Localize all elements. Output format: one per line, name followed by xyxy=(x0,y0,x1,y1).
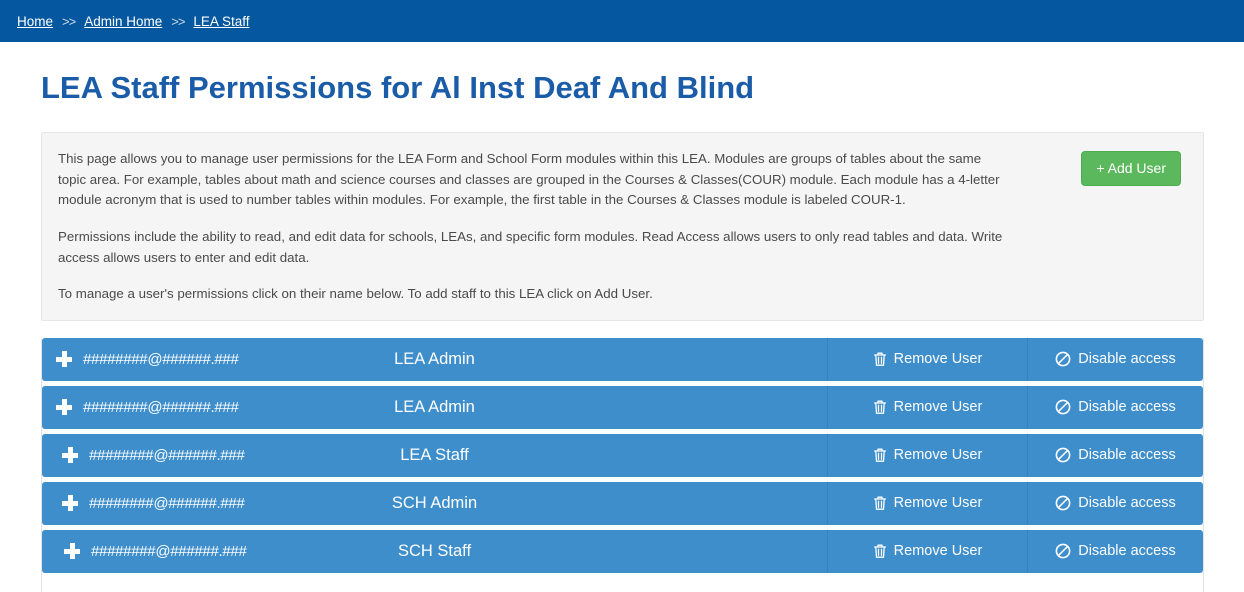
remove-user-button[interactable]: Remove User xyxy=(827,386,1027,429)
breadcrumb-lea-staff[interactable]: LEA Staff xyxy=(193,14,249,29)
page-title: LEA Staff Permissions for Al Inst Deaf A… xyxy=(41,71,1214,105)
table-row[interactable]: ########@######.### SCH Admin Remove Use… xyxy=(42,482,1203,525)
user-permissions-table: ########@######.### LEA Admin Remove Use… xyxy=(41,338,1204,592)
info-paragraph-2: Permissions include the ability to read,… xyxy=(58,227,1008,268)
disable-access-label: Disable access xyxy=(1078,399,1176,415)
trash-icon xyxy=(873,543,887,559)
remove-user-label: Remove User xyxy=(894,399,983,415)
disable-access-label: Disable access xyxy=(1078,495,1176,511)
remove-user-label: Remove User xyxy=(894,543,983,559)
user-cell[interactable]: ########@######.### LEA Admin xyxy=(42,338,827,381)
remove-user-label: Remove User xyxy=(894,495,983,511)
ban-icon xyxy=(1055,495,1071,511)
user-email: ########@######.### xyxy=(89,447,245,464)
disable-access-button[interactable]: Disable access xyxy=(1027,482,1203,525)
disable-access-label: Disable access xyxy=(1078,447,1176,463)
remove-user-button[interactable]: Remove User xyxy=(827,530,1027,573)
breadcrumb-admin-home[interactable]: Admin Home xyxy=(84,14,162,29)
user-email: ########@######.### xyxy=(83,399,239,416)
disable-access-button[interactable]: Disable access xyxy=(1027,386,1203,429)
table-row[interactable]: ########@######.### LEA Staff Remove Use… xyxy=(42,434,1203,477)
ban-icon xyxy=(1055,543,1071,559)
ban-icon xyxy=(1055,447,1071,463)
user-email: ########@######.### xyxy=(83,351,239,368)
info-paragraph-1: This page allows you to manage user perm… xyxy=(58,149,1008,211)
breadcrumb: Home >> Admin Home >> LEA Staff xyxy=(0,0,1244,42)
ban-icon xyxy=(1055,351,1071,367)
breadcrumb-separator: >> xyxy=(171,14,184,29)
plus-icon[interactable] xyxy=(62,447,78,463)
disable-access-label: Disable access xyxy=(1078,543,1176,559)
remove-user-button[interactable]: Remove User xyxy=(827,482,1027,525)
info-panel: This page allows you to manage user perm… xyxy=(41,132,1204,321)
trash-icon xyxy=(873,351,887,367)
user-cell[interactable]: ########@######.### SCH Admin xyxy=(42,482,827,525)
table-row[interactable]: ########@######.### LEA Admin Remove Use… xyxy=(42,386,1203,429)
remove-user-label: Remove User xyxy=(894,447,983,463)
user-cell[interactable]: ########@######.### SCH Staff xyxy=(42,530,827,573)
user-email: ########@######.### xyxy=(89,495,245,512)
table-row[interactable]: ########@######.### SCH Staff Remove Use… xyxy=(42,530,1203,573)
plus-icon[interactable] xyxy=(62,495,78,511)
remove-user-button[interactable]: Remove User xyxy=(827,434,1027,477)
user-email: ########@######.### xyxy=(91,543,247,560)
user-cell[interactable]: ########@######.### LEA Admin xyxy=(42,386,827,429)
breadcrumb-separator: >> xyxy=(62,14,75,29)
info-panel-text: This page allows you to manage user perm… xyxy=(58,149,1008,305)
user-cell[interactable]: ########@######.### LEA Staff xyxy=(42,434,827,477)
remove-user-label: Remove User xyxy=(894,351,983,367)
disable-access-button[interactable]: Disable access xyxy=(1027,338,1203,381)
trash-icon xyxy=(873,447,887,463)
plus-icon[interactable] xyxy=(56,351,72,367)
trash-icon xyxy=(873,495,887,511)
info-paragraph-3: To manage a user's permissions click on … xyxy=(58,284,1008,305)
plus-icon[interactable] xyxy=(56,399,72,415)
trash-icon xyxy=(873,399,887,415)
disable-access-label: Disable access xyxy=(1078,351,1176,367)
disable-access-button[interactable]: Disable access xyxy=(1027,530,1203,573)
disable-access-button[interactable]: Disable access xyxy=(1027,434,1203,477)
add-user-button[interactable]: + Add User xyxy=(1081,151,1181,186)
page-body: LEA Staff Permissions for Al Inst Deaf A… xyxy=(0,71,1244,592)
table-row[interactable]: ########@######.### LEA Admin Remove Use… xyxy=(42,338,1203,381)
plus-icon[interactable] xyxy=(64,543,80,559)
breadcrumb-home[interactable]: Home xyxy=(17,14,53,29)
ban-icon xyxy=(1055,399,1071,415)
remove-user-button[interactable]: Remove User xyxy=(827,338,1027,381)
